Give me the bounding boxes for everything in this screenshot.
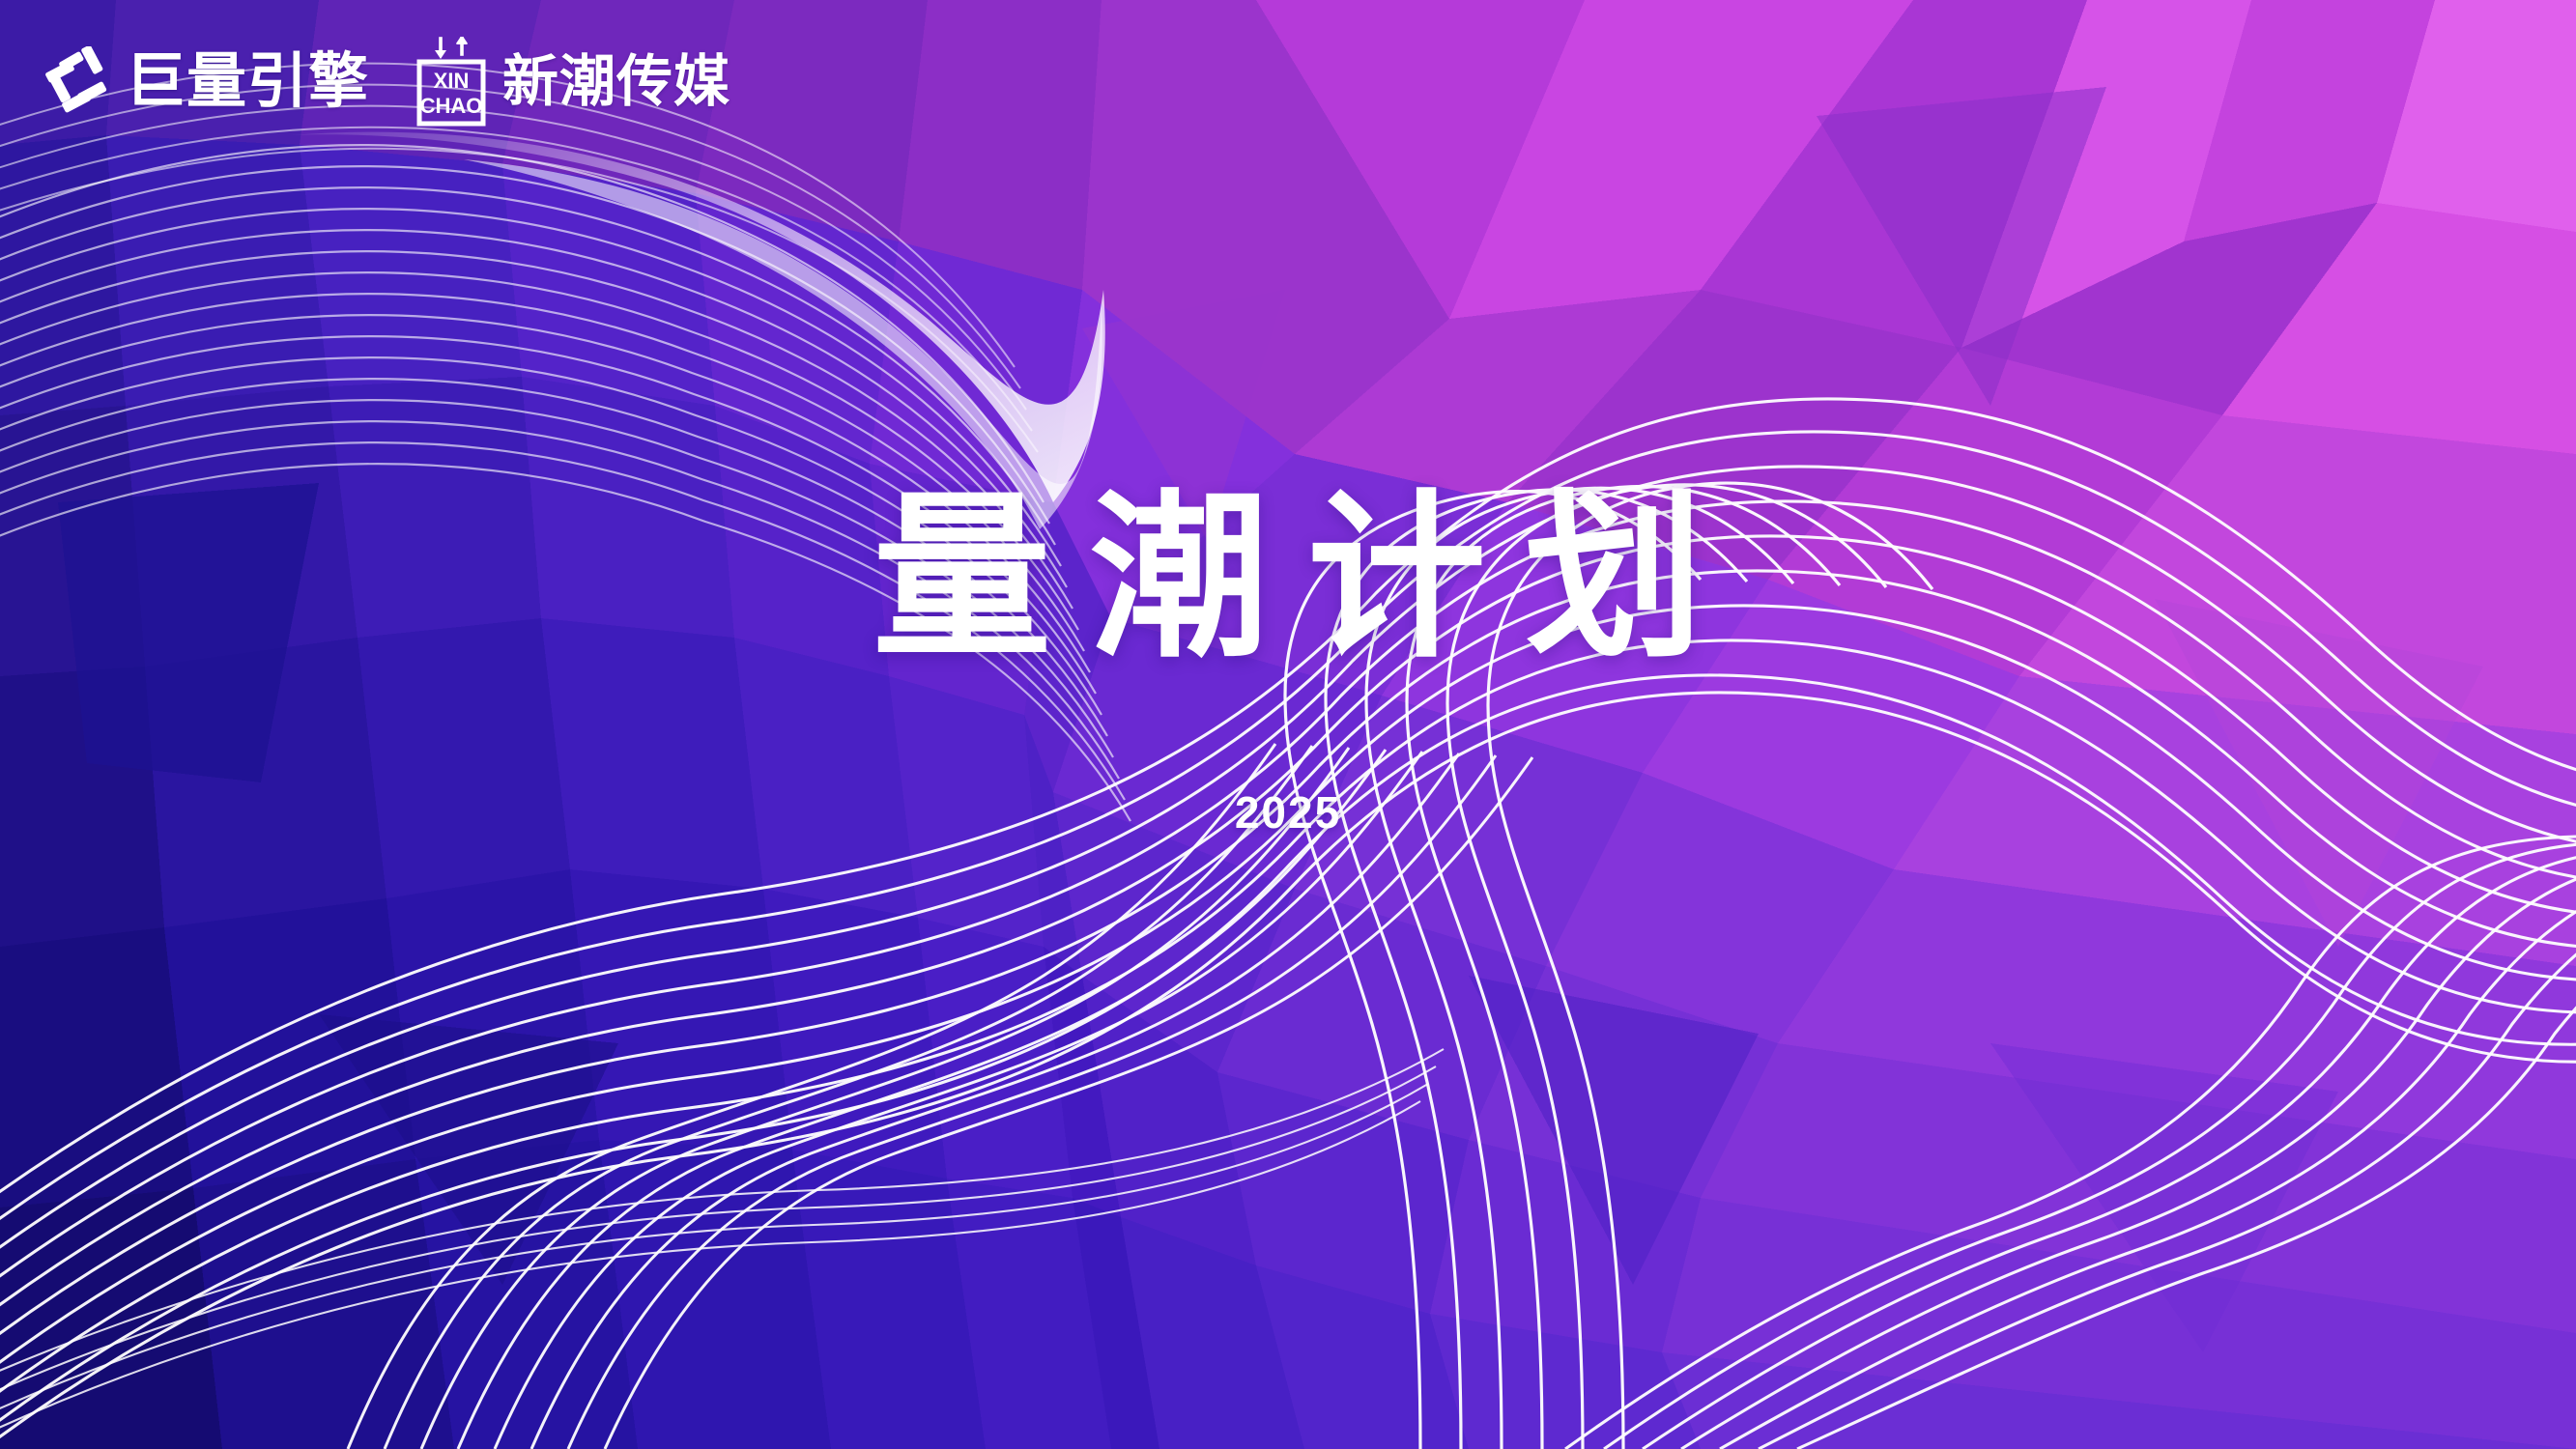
xinchao-box-icon: XIN CHAO xyxy=(414,37,489,128)
logo-xinchao-media[interactable]: XIN CHAO 新潮传媒 xyxy=(414,37,730,128)
cover-slide: 巨量引擎 XIN CHAO 新潮传 xyxy=(0,0,2576,1449)
xinchao-line1: XIN xyxy=(434,69,470,93)
xinchao-line2: CHAO xyxy=(420,94,483,118)
pinwheel-hexagon-icon xyxy=(41,46,112,118)
page-title: 量潮计划 xyxy=(0,488,2576,670)
hero-text-block: 量潮计划 2025 xyxy=(0,488,2576,838)
hero-year: 2025 xyxy=(0,670,2576,838)
brand-logo-bar: 巨量引擎 XIN CHAO 新潮传 xyxy=(41,37,730,128)
xinchao-wordmark: 新潮传媒 xyxy=(502,54,730,110)
logo-ocean-engine[interactable]: 巨量引擎 xyxy=(41,46,369,118)
ocean-engine-wordmark: 巨量引擎 xyxy=(126,52,369,112)
